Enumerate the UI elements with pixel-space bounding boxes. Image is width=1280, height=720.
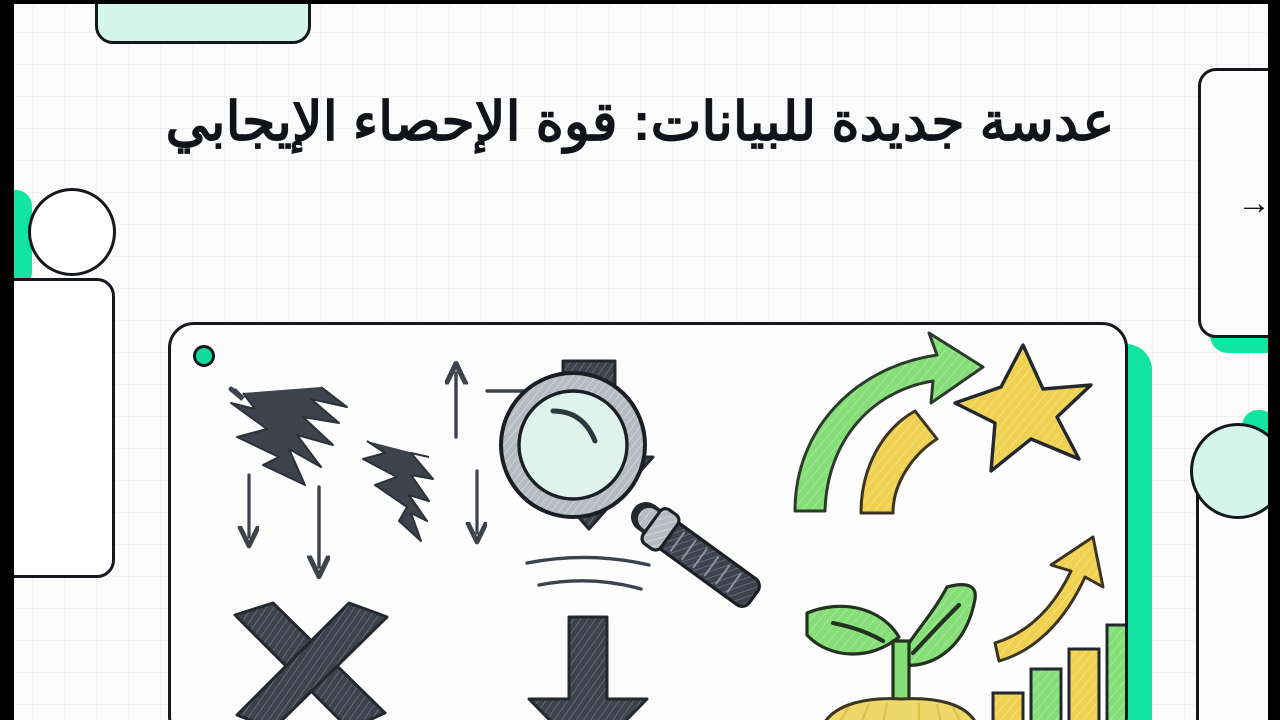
page-title: عدسة جديدة للبيانات: قوة الإحصاء الإيجاب… (160, 88, 1120, 156)
illustration-card (168, 322, 1128, 720)
hatched-down-arrow-small-icon (529, 617, 647, 720)
crack-bolt-icon (231, 387, 347, 485)
white-panel-decoration-left (0, 278, 115, 578)
positive-symbols-group (795, 333, 1128, 720)
green-sprout-icon (807, 585, 977, 720)
curved-lines-icon (527, 557, 649, 589)
frame-bar-right (1268, 0, 1280, 720)
magnifying-glass-icon (501, 373, 766, 614)
outline-circle-decoration (28, 188, 116, 276)
hatched-cross-x-icon (235, 603, 387, 720)
statistics-illustration (171, 325, 1128, 720)
crack-bolt-small-icon (363, 441, 433, 541)
frame-bar-top (0, 0, 1280, 4)
arrow-right-icon[interactable]: → (1237, 186, 1271, 220)
frame-bar-left (0, 0, 14, 720)
mint-pill-box-decoration (95, 0, 311, 44)
growth-bar-chart-icon (993, 537, 1128, 720)
gold-curved-arrow-icon (861, 411, 937, 513)
mint-circle-decoration (1190, 423, 1280, 519)
